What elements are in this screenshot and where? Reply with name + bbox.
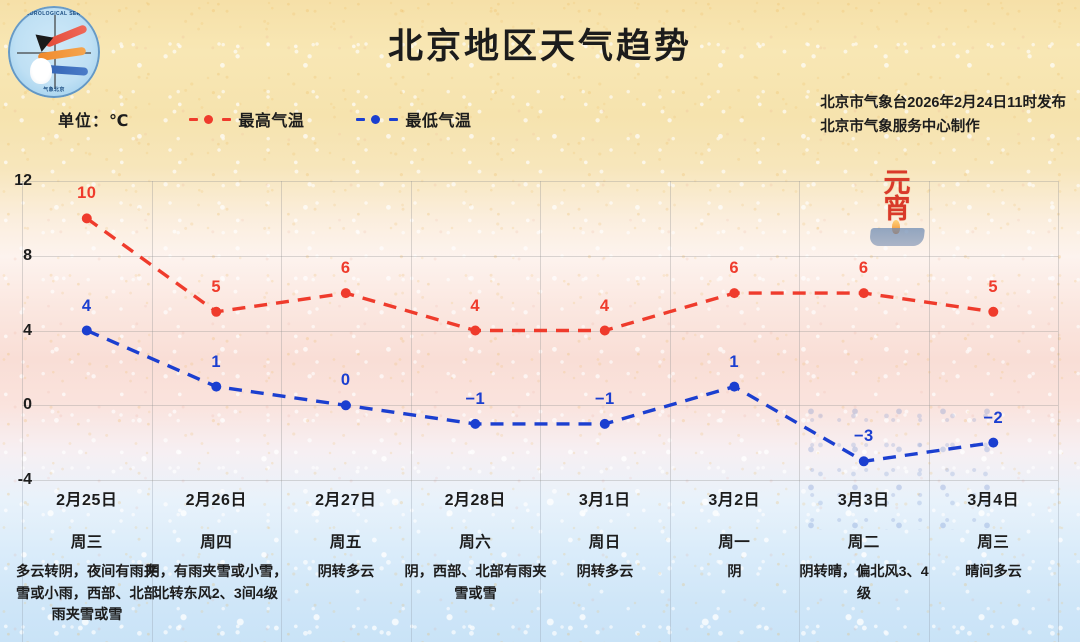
data-point xyxy=(470,326,480,336)
data-point xyxy=(341,400,351,410)
forecast-date: 2月26日 xyxy=(152,486,282,510)
data-point-label: 6 xyxy=(316,259,376,278)
data-point xyxy=(859,288,869,298)
forecast-description: 阴转多云 xyxy=(534,562,676,584)
data-point xyxy=(988,307,998,317)
forecast-date: 3月3日 xyxy=(799,486,929,510)
forecast-column[interactable]: 3月4日周三晴间多云 xyxy=(929,486,1059,552)
data-point-label: 4 xyxy=(575,297,635,316)
data-point xyxy=(729,382,739,392)
forecast-weekday: 周四 xyxy=(152,530,282,552)
data-point xyxy=(341,288,351,298)
data-point-label: −2 xyxy=(963,409,1023,428)
forecast-description: 晴间多云 xyxy=(923,562,1065,584)
data-point xyxy=(82,213,92,223)
data-point-label: 4 xyxy=(57,297,117,316)
forecast-date: 2月25日 xyxy=(22,486,152,510)
data-point xyxy=(600,419,610,429)
data-point-label: 5 xyxy=(186,278,246,297)
forecast-weekday: 周三 xyxy=(929,530,1059,552)
forecast-weekday: 周五 xyxy=(281,530,411,552)
data-point-label: 0 xyxy=(316,371,376,390)
data-point-label: −1 xyxy=(575,390,635,409)
data-point xyxy=(470,419,480,429)
forecast-date: 3月2日 xyxy=(670,486,800,510)
forecast-description: 阴 xyxy=(664,562,806,584)
data-point xyxy=(211,307,221,317)
forecast-date: 2月27日 xyxy=(281,486,411,510)
forecast-column[interactable]: 2月28日周六阴，西部、北部有雨夹雪或雪 xyxy=(411,486,541,552)
data-point-label: −1 xyxy=(445,390,505,409)
forecast-weekday: 周二 xyxy=(799,530,929,552)
data-point-label: 1 xyxy=(704,353,764,372)
forecast-weekday: 周一 xyxy=(670,530,800,552)
forecast-date: 3月1日 xyxy=(540,486,670,510)
forecast-description: 阴转多云 xyxy=(275,562,417,584)
data-point-label: 1 xyxy=(186,353,246,372)
data-point xyxy=(82,326,92,336)
data-point xyxy=(600,326,610,336)
data-point-label: 5 xyxy=(963,278,1023,297)
forecast-column[interactable]: 3月2日周一阴 xyxy=(670,486,800,552)
data-point-label: 4 xyxy=(445,297,505,316)
forecast-column[interactable]: 2月27日周五阴转多云 xyxy=(281,486,411,552)
forecast-description: 阴，有雨夹雪或小雪，北转东风2、3间4级 xyxy=(146,562,288,605)
forecast-weekday: 周三 xyxy=(22,530,152,552)
weather-trend-infographic: METEOROLOGICAL SERVICE 气象北京 北京地区天气趋势 单位：… xyxy=(0,0,1080,642)
forecast-description: 阴，西部、北部有雨夹雪或雪 xyxy=(405,562,547,605)
forecast-column[interactable]: 2月25日周三多云转阴，夜间有雨夹雪或小雨，西部、北部雨夹雪或雪 xyxy=(22,486,152,552)
forecast-weekday: 周日 xyxy=(540,530,670,552)
data-point xyxy=(729,288,739,298)
data-point-label: 10 xyxy=(57,184,117,203)
forecast-date: 3月4日 xyxy=(929,486,1059,510)
forecast-column[interactable]: 3月3日周二阴转晴，偏北风3、4级 xyxy=(799,486,929,552)
data-point-label: 6 xyxy=(704,259,764,278)
forecast-description: 阴转晴，偏北风3、4级 xyxy=(793,562,935,605)
data-point xyxy=(859,456,869,466)
data-point-label: 6 xyxy=(834,259,894,278)
data-point xyxy=(988,438,998,448)
forecast-column[interactable]: 2月26日周四阴，有雨夹雪或小雪，北转东风2、3间4级 xyxy=(152,486,282,552)
data-point xyxy=(211,382,221,392)
forecast-column[interactable]: 3月1日周日阴转多云 xyxy=(540,486,670,552)
forecast-date: 2月28日 xyxy=(411,486,541,510)
forecast-description: 多云转阴，夜间有雨夹雪或小雨，西部、北部雨夹雪或雪 xyxy=(16,562,158,627)
forecast-weekday: 周六 xyxy=(411,530,541,552)
data-point-label: −3 xyxy=(834,427,894,446)
